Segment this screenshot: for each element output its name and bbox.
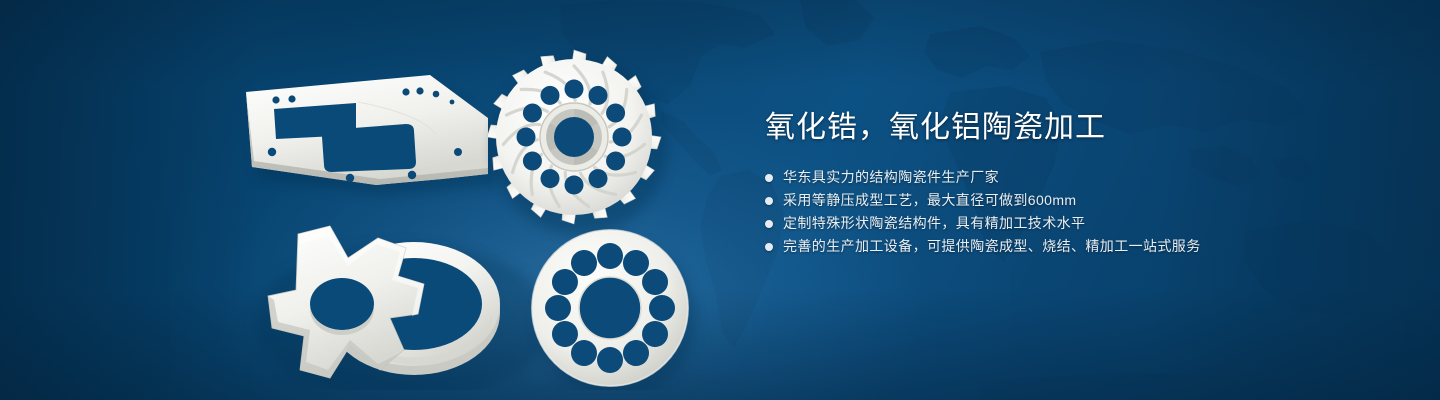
list-item: 采用等静压成型工艺，最大直径可做到600mm: [765, 189, 1405, 212]
feature-text: 华东具实力的结构陶瓷件生产厂家: [783, 166, 999, 189]
ceramic-cross-and-ring-group: [254, 226, 554, 390]
bullet-dot-icon: [765, 197, 773, 205]
feature-text: 完善的生产加工设备，可提供陶瓷成型、烧结、精加工一站式服务: [783, 235, 1201, 258]
feature-list: 华东具实力的结构陶瓷件生产厂家 采用等静压成型工艺，最大直径可做到600mm 定…: [765, 166, 1405, 258]
feature-text: 采用等静压成型工艺，最大直径可做到600mm: [783, 189, 1076, 212]
hero-copy: 氧化锆，氧化铝陶瓷加工 华东具实力的结构陶瓷件生产厂家 采用等静压成型工艺，最大…: [765, 108, 1405, 258]
list-item: 定制特殊形状陶瓷结构件，具有精加工技术水平: [765, 212, 1405, 235]
bullet-dot-icon: [765, 243, 773, 251]
hero-banner: 氧化锆，氧化铝陶瓷加工 华东具实力的结构陶瓷件生产厂家 采用等静压成型工艺，最大…: [0, 0, 1440, 400]
ceramic-vaned-impeller: [487, 50, 668, 235]
list-item: 华东具实力的结构陶瓷件生产厂家: [765, 166, 1405, 189]
list-item: 完善的生产加工设备，可提供陶瓷成型、烧结、精加工一站式服务: [765, 235, 1405, 258]
ceramic-perforated-disc: [532, 230, 696, 390]
feature-text: 定制特殊形状陶瓷结构件，具有精加工技术水平: [783, 212, 1085, 235]
bullet-dot-icon: [765, 174, 773, 182]
page-title: 氧化锆，氧化铝陶瓷加工: [765, 108, 1405, 148]
bullet-dot-icon: [765, 220, 773, 228]
ceramic-products-collage: [230, 30, 730, 390]
ceramic-machined-plate: [246, 75, 497, 196]
